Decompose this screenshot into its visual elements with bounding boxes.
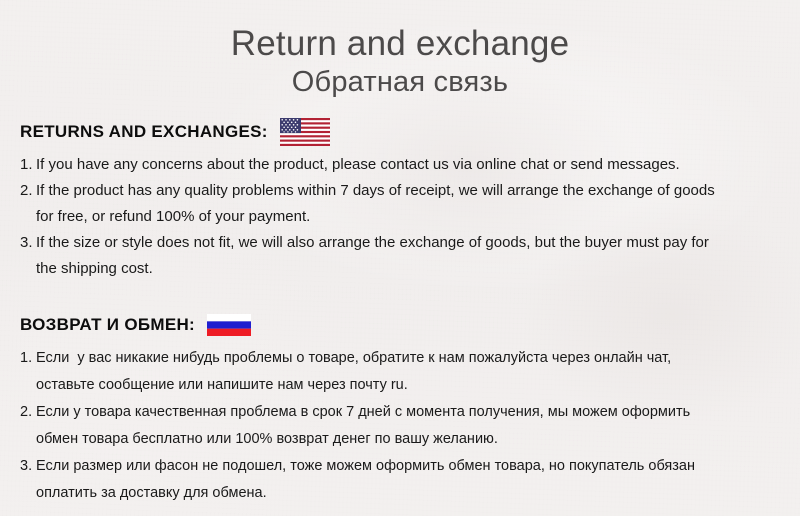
section-heading-english: RETURNS AND EXCHANGES: [20,122,268,142]
list-item: 2. If the product has any quality proble… [20,178,800,230]
list-item: 3. Если размер или фасон не подошел, тож… [20,453,800,507]
list-item-number: 3. [20,453,36,480]
list-item-line: If you have any concerns about the produ… [36,152,800,178]
returns-list-english: 1. If you have any concerns about the pr… [20,152,800,282]
list-item: 1. If you have any concerns about the pr… [20,152,800,178]
list-item-line: If the product has any quality problems … [36,178,800,204]
list-item-line: Если у вас никакие нибудь проблемы о тов… [36,345,800,372]
list-item-body: If the size or style does not fit, we wi… [36,230,800,282]
section-heading-russian: ВОЗВРАТ И ОБМЕН: [20,315,195,335]
list-item-body: If the product has any quality problems … [36,178,800,230]
list-item-body: Если у вас никакие нибудь проблемы о тов… [36,345,800,399]
list-item-body: Если у товара качественная проблема в ср… [36,399,800,453]
returns-list-russian: 1. Если у вас никакие нибудь проблемы о … [20,345,800,507]
section-heading-row-russian: ВОЗВРАТ И ОБМЕН: [20,310,800,340]
list-item-body: Если размер или фасон не подошел, тоже м… [36,453,800,507]
list-item-line: If the size or style does not fit, we wi… [36,230,800,256]
section-returns-and-exchanges-russian: ВОЗВРАТ И ОБМЕН: 1. Если у вас никакие н… [0,310,800,507]
us-flag-icon [280,118,330,146]
list-item-number: 2. [20,399,36,426]
list-item-body: If you have any concerns about the produ… [36,152,800,178]
list-item-line: оплатить за доставку для обмена. [36,480,800,507]
list-item: 2. Если у товара качественная проблема в… [20,399,800,453]
section-heading-row-english: RETURNS AND EXCHANGES: [20,117,800,147]
list-item-line: обмен товара бесплатно или 100% возврат … [36,426,800,453]
list-item-number: 2. [20,178,36,204]
list-item: 1. Если у вас никакие нибудь проблемы о … [20,345,800,399]
return-and-exchange-banner: Return and exchange Обратная связь RETUR… [0,0,800,516]
list-item-line: оставьте сообщение или напишите нам чере… [36,372,800,399]
list-item-line: the shipping cost. [36,256,800,282]
section-returns-and-exchanges-english: RETURNS AND EXCHANGES: [0,117,800,282]
list-item: 3. If the size or style does not fit, we… [20,230,800,282]
list-item-line: for free, or refund 100% of your payment… [36,204,800,230]
russia-flag-icon [207,314,251,336]
list-item-number: 1. [20,345,36,372]
list-item-number: 3. [20,230,36,256]
list-item-line: Если размер или фасон не подошел, тоже м… [36,453,800,480]
list-item-line: Если у товара качественная проблема в ср… [36,399,800,426]
page-title-russian: Обратная связь [0,65,800,99]
list-item-number: 1. [20,152,36,178]
page-title-english: Return and exchange [0,24,800,64]
page-title-block: Return and exchange Обратная связь [0,0,800,99]
